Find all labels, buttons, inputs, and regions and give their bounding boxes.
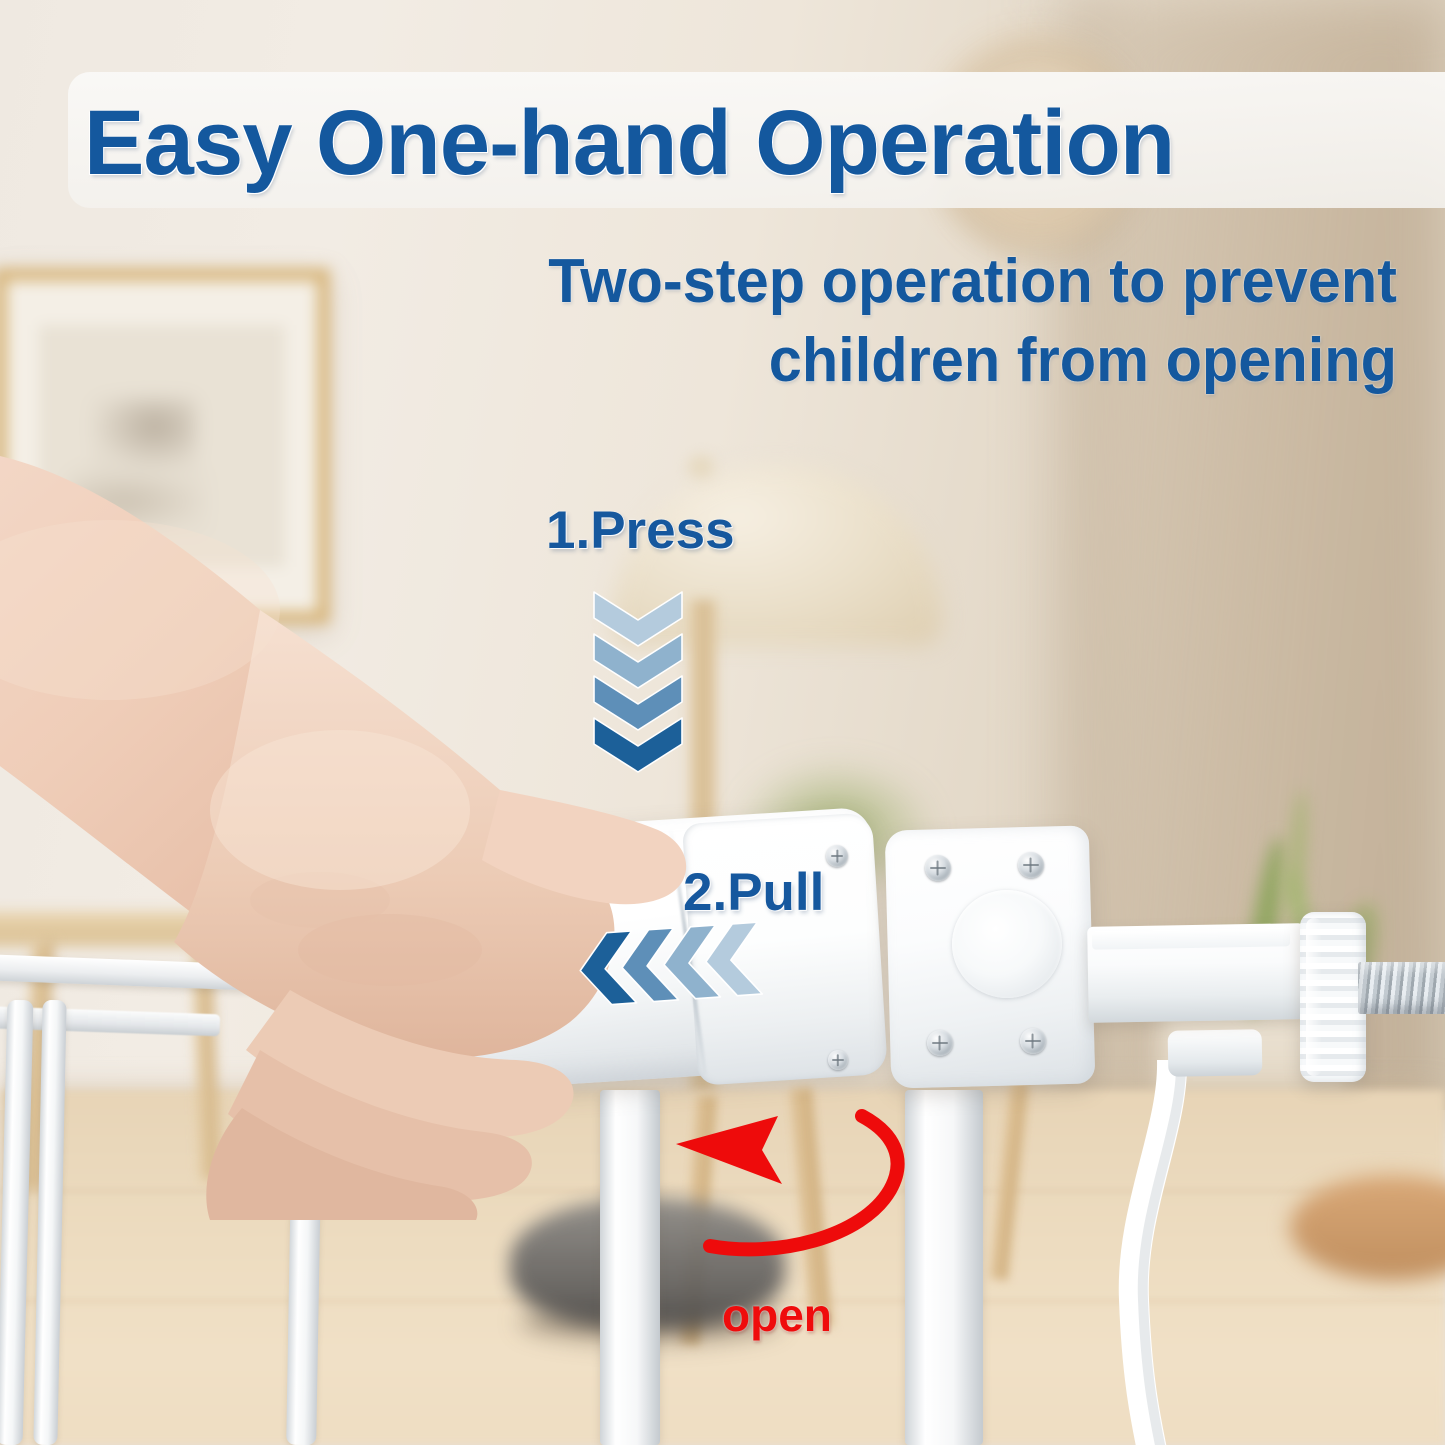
open-label: open (722, 1288, 832, 1342)
subtitle-line-1: Two-step operation to prevent (437, 242, 1397, 321)
step-2-label: 2.Pull (683, 862, 824, 923)
chevron-left-icon-group (573, 918, 778, 1010)
chevron-down-icon-group (588, 590, 688, 775)
page-title: Easy One-hand Operation (84, 78, 1409, 209)
step-1-label: 1.Press (546, 500, 735, 561)
screw-icon (925, 855, 951, 881)
screw-icon (826, 845, 848, 867)
page-subtitle: Two-step operation to prevent children f… (437, 242, 1397, 401)
threaded-rod (1358, 962, 1445, 1014)
screw-icon (828, 1050, 848, 1070)
gate-curved-tube (1112, 1060, 1210, 1445)
mounting-arm-highlight (1092, 928, 1290, 949)
screw-icon (1018, 852, 1044, 878)
gate-foot-pad (1168, 1029, 1263, 1077)
screw-icon (927, 1030, 953, 1056)
subtitle-line-2: children from opening (437, 321, 1397, 400)
product-feature-image: Easy One-hand Operation Two-step operati… (0, 0, 1445, 1445)
tension-knob-highlight (1306, 918, 1322, 1076)
screw-icon (1020, 1028, 1046, 1054)
open-direction-arrow-icon (666, 1098, 936, 1278)
